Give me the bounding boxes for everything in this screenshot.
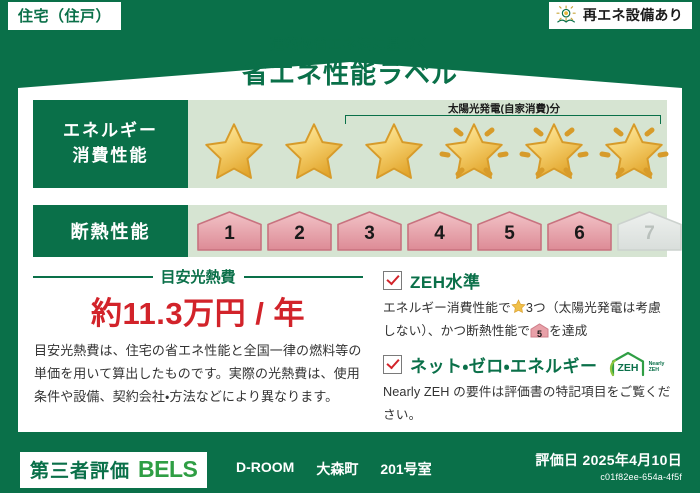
insulation-level-scale: 1234567 [196,210,683,252]
energy-stars-area: 太陽光発電(自家消費)分 [188,100,667,188]
zeh-standard-checkbox-icon [383,271,402,290]
net-zero-energy-heading: ネット・ゼロ・エネルギー ZEH Nearly ZEH [383,351,671,377]
net-zero-checkbox-icon [383,355,402,374]
property-info: D-ROOM 大森町 201号室 [236,459,432,479]
inline-star-icon [511,299,526,314]
estimated-cost-value: 約11.3万円 / 年 [33,288,363,333]
property-area: 大森町 [316,459,358,479]
evaluation-info: 評価日 2025年4月10日 c01f82ee-654a-4f5f [535,450,682,482]
footer-bar: 第三者評価 BELS D-ROOM 大森町 201号室 評価日 2025年4月1… [0,443,700,493]
solar-sparkle-icon [436,116,512,186]
property-name: D-ROOM [236,459,294,479]
zeh-logo-subtext: Nearly ZEH [649,361,665,377]
svg-text:ZEH: ZEH [617,362,638,374]
insulation-level-label: 3 [336,223,403,245]
net-zero-energy-block: ネット・ゼロ・エネルギー ZEH Nearly ZEH Nearly ZEH の… [383,351,671,426]
star-6 [596,116,672,186]
zeh-logo-sub-line2: ZEH [649,367,659,373]
star-4 [436,116,512,186]
zeh-logo-sub-line1: Nearly [649,361,665,367]
bels-en-label: BELS [138,456,197,483]
insulation-level-label: 7 [616,223,683,245]
zeh-standard-heading: ZEH水準 [383,268,671,293]
heading-rule-left [33,276,153,278]
star-icon [200,120,268,184]
page-title: 省エネ性能ラベル [0,54,700,91]
zeh-standard-description: エネルギー消費性能で3つ（太陽光発電は考慮しない）、かつ断熱性能で5を達成 [383,297,671,342]
insulation-levels-area: 1234567 [188,205,667,257]
bels-jp-label: 第三者評価 [30,456,130,483]
insulation-performance-label-box: 断熱性能 [33,205,188,257]
insulation-level-label: 5 [476,223,543,245]
evaluation-date: 評価日 2025年4月10日 [535,450,682,470]
inline-house-level: 5 [530,326,549,342]
insulation-level-label: 1 [196,223,263,245]
zeh-criteria-block: ZEH水準 エネルギー消費性能で3つ（太陽光発電は考慮しない）、かつ断熱性能で5… [383,268,671,426]
net-zero-energy-title: ネット・ゼロ・エネルギー [410,352,598,377]
zeh-text-part1: エネルギー消費性能で [383,301,511,315]
zeh-house-logo-icon: ZEH [609,351,647,377]
label-subtitle: 建築物省エネ法に基づく [0,34,700,54]
solar-bracket-label: 太陽光発電(自家消費)分 [345,101,663,116]
insulation-level-label: 2 [266,223,333,245]
star-1 [196,116,272,186]
star-5 [516,116,592,186]
insulation-level-label: 4 [406,223,473,245]
zeh-text-part3: を達成 [549,324,587,338]
insulation-level-3: 3 [336,210,403,252]
estimated-cost-heading-text: 目安光熱費 [161,266,236,287]
property-room: 201号室 [380,459,431,479]
star-2 [276,116,352,186]
insulation-level-7: 7 [616,210,683,252]
energy-performance-row: エネルギー 消費性能 太陽光発電(自家消費)分 [33,100,667,188]
energy-performance-label-box: エネルギー 消費性能 [33,100,188,188]
evaluation-id: c01f82ee-654a-4f5f [535,472,682,482]
star-rating [196,116,672,186]
heading-rule-right [244,276,364,278]
star-icon [280,120,348,184]
energy-label-line1: エネルギー [63,119,158,144]
bels-certification-mark: 第三者評価 BELS [20,452,207,488]
solar-sparkle-icon [516,116,592,186]
insulation-level-6: 6 [546,210,613,252]
zeh-logo: ZEH Nearly ZEH [609,351,665,377]
inline-house-badge: 5 [530,323,549,338]
solar-sparkle-icon [596,116,672,186]
renewable-energy-badge: 再エネ設備あり [549,2,692,29]
insulation-level-4: 4 [406,210,473,252]
insulation-level-1: 1 [196,210,263,252]
insulation-performance-row: 断熱性能 1234567 [33,205,667,257]
star-3 [356,116,432,186]
estimated-cost-heading: 目安光熱費 [33,266,363,287]
insulation-level-2: 2 [266,210,333,252]
insulation-level-label: 6 [546,223,613,245]
sun-icon [556,5,578,25]
star-icon [360,120,428,184]
energy-performance-label: 住宅（住戸） 再エネ設備あり 建築物省エネ法に基づく 省エネ性能ラベル エネルギ… [0,0,700,493]
estimated-cost-description: 目安光熱費は、住宅の省エネ性能と全国一律の燃料等の単価を用いて算出したものです。… [34,340,366,408]
insulation-level-5: 5 [476,210,543,252]
building-type-tag: 住宅（住戸） [8,2,121,30]
renewable-badge-label: 再エネ設備あり [583,5,683,25]
zeh-standard-title: ZEH水準 [410,268,481,293]
energy-label-line2: 消費性能 [73,144,149,169]
net-zero-energy-description: Nearly ZEH の要件は評価書の特記項目をご覧ください。 [383,381,671,426]
